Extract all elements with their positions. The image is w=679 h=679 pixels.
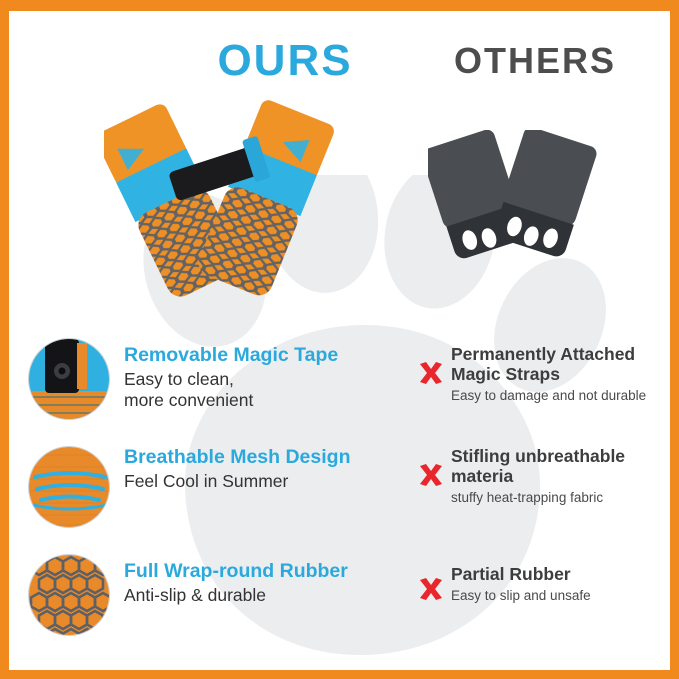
others-feature-title: Partial Rubber bbox=[451, 564, 679, 584]
ours-feature-sub-line1: Easy to clean, bbox=[124, 369, 234, 389]
ours-feature-title: Full Wrap-round Rubber bbox=[124, 560, 414, 582]
ours-feature-sub: Anti-slip & durable bbox=[124, 585, 414, 606]
others-feature-title-line2: materia bbox=[451, 466, 513, 486]
thumbnail-wrap-round-rubber bbox=[28, 554, 110, 636]
others-feature-title-line1: Permanently Attached bbox=[451, 344, 635, 364]
others-feature-title: Permanently Attached Magic Straps bbox=[451, 344, 679, 384]
others-feature-title-line1: Stifling unbreathable bbox=[451, 446, 625, 466]
ours-product-image bbox=[104, 100, 334, 320]
ours-feature-sub: Feel Cool in Summer bbox=[124, 471, 414, 492]
ours-feature-sub: Easy to clean, more convenient bbox=[124, 369, 414, 411]
frame-left-border bbox=[0, 0, 9, 679]
comparison-row: Removable Magic Tape Easy to clean, more… bbox=[28, 330, 658, 438]
others-feature-title: Stifling unbreathable materia bbox=[451, 446, 679, 486]
ours-feature-title: Removable Magic Tape bbox=[124, 344, 414, 366]
others-feature-sub: Easy to slip and unsafe bbox=[451, 587, 679, 604]
x-mark-icon bbox=[416, 358, 446, 388]
comparison-row: Full Wrap-round Rubber Anti-slip & durab… bbox=[28, 546, 658, 654]
ours-feature-text: Breathable Mesh Design Feel Cool in Summ… bbox=[124, 446, 414, 492]
x-mark-icon bbox=[416, 574, 446, 604]
others-feature-sub: Easy to damage and not durable bbox=[451, 387, 679, 404]
others-feature-title-line2: Magic Straps bbox=[451, 364, 560, 384]
x-mark-icon bbox=[416, 460, 446, 490]
ours-feature-text: Full Wrap-round Rubber Anti-slip & durab… bbox=[124, 560, 414, 606]
comparison-infographic: OURS OTHERS bbox=[0, 0, 679, 679]
frame-top-border bbox=[0, 0, 679, 11]
thumbnail-breathable-mesh bbox=[28, 446, 110, 528]
others-product-image bbox=[428, 130, 598, 275]
comparison-row: Breathable Mesh Design Feel Cool in Summ… bbox=[28, 438, 658, 546]
frame-bottom-border bbox=[0, 670, 679, 679]
ours-feature-sub-line2: more convenient bbox=[124, 390, 253, 410]
others-feature-text: Partial Rubber Easy to slip and unsafe bbox=[451, 564, 679, 604]
heading-others: OTHERS bbox=[400, 40, 670, 82]
others-feature-text: Permanently Attached Magic Straps Easy t… bbox=[451, 344, 679, 404]
others-feature-text: Stifling unbreathable materia stuffy hea… bbox=[451, 446, 679, 506]
heading-ours: OURS bbox=[140, 36, 430, 86]
others-feature-sub: stuffy heat-trapping fabric bbox=[451, 489, 679, 506]
ours-feature-text: Removable Magic Tape Easy to clean, more… bbox=[124, 344, 414, 411]
ours-feature-title: Breathable Mesh Design bbox=[124, 446, 414, 468]
thumbnail-magic-tape bbox=[28, 338, 110, 420]
comparison-rows: Removable Magic Tape Easy to clean, more… bbox=[28, 330, 658, 654]
